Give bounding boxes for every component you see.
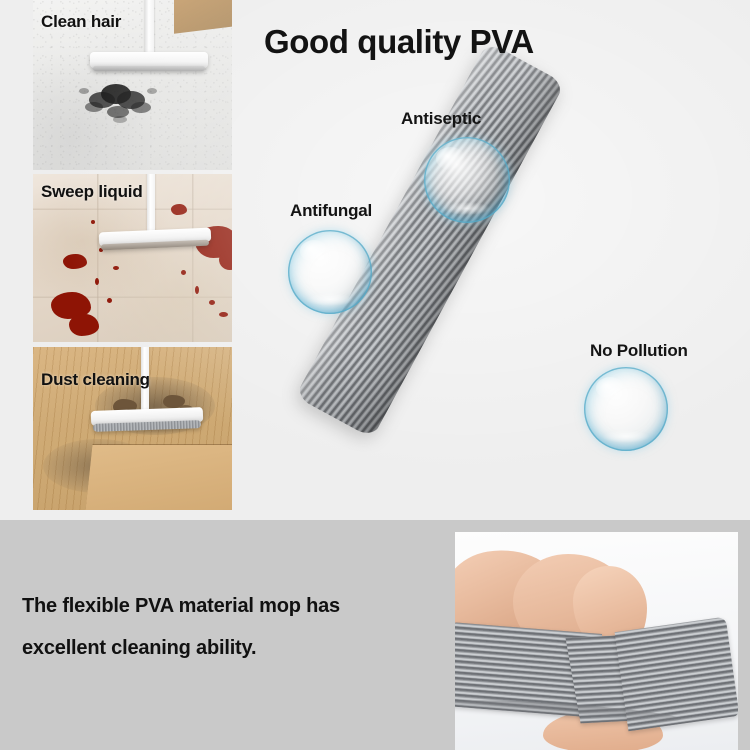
bottom-copy-line-1: The flexible PVA material mop has (22, 585, 422, 627)
bottom-copy: The flexible PVA material mop has excell… (22, 585, 422, 669)
thumbnail-label-clean-hair: Clean hair (41, 12, 121, 32)
headline: Good quality PVA (264, 23, 534, 61)
liquid-spill (171, 204, 187, 215)
feature-label-antifungal: Antifungal (290, 201, 372, 221)
bottom-copy-line-2: excellent cleaning ability. (22, 627, 422, 669)
liquid-spill (69, 314, 99, 336)
liquid-droplet (91, 220, 95, 224)
bottom-section: The flexible PVA material mop has excell… (0, 520, 750, 750)
bubble-icon-no-pollution (584, 367, 668, 451)
thumbnail-sweep-liquid: Sweep liquid (33, 174, 232, 342)
product-marketing-image: Clean hair (0, 0, 750, 750)
liquid-droplet (219, 312, 228, 317)
liquid-droplet (195, 286, 199, 294)
hand-flexing-sponge-photo (455, 532, 738, 750)
feature-label-no-pollution: No Pollution (590, 341, 688, 361)
liquid-droplet (113, 266, 119, 270)
feature-label-antiseptic: Antiseptic (401, 109, 481, 129)
thumbnail-label-dust-cleaning: Dust cleaning (41, 370, 150, 390)
bubble-icon-antifungal (288, 230, 372, 314)
bubble-icon-antiseptic (424, 137, 510, 223)
thumbnail-label-sweep-liquid: Sweep liquid (41, 182, 143, 202)
mop-handle (147, 174, 155, 232)
liquid-droplet (95, 278, 99, 285)
thumbnail-clean-hair: Clean hair (33, 0, 232, 170)
liquid-droplet (107, 298, 112, 303)
wood-plank (86, 445, 232, 510)
top-section: Clean hair (0, 0, 750, 520)
thumbnail-dust-cleaning: Dust cleaning (33, 347, 232, 510)
hair-debris (83, 82, 159, 124)
mop-head-sponge-edge (93, 66, 205, 71)
mop-handle (145, 0, 154, 56)
liquid-droplet (181, 270, 186, 275)
liquid-droplet (209, 300, 215, 305)
liquid-spill (63, 254, 87, 269)
